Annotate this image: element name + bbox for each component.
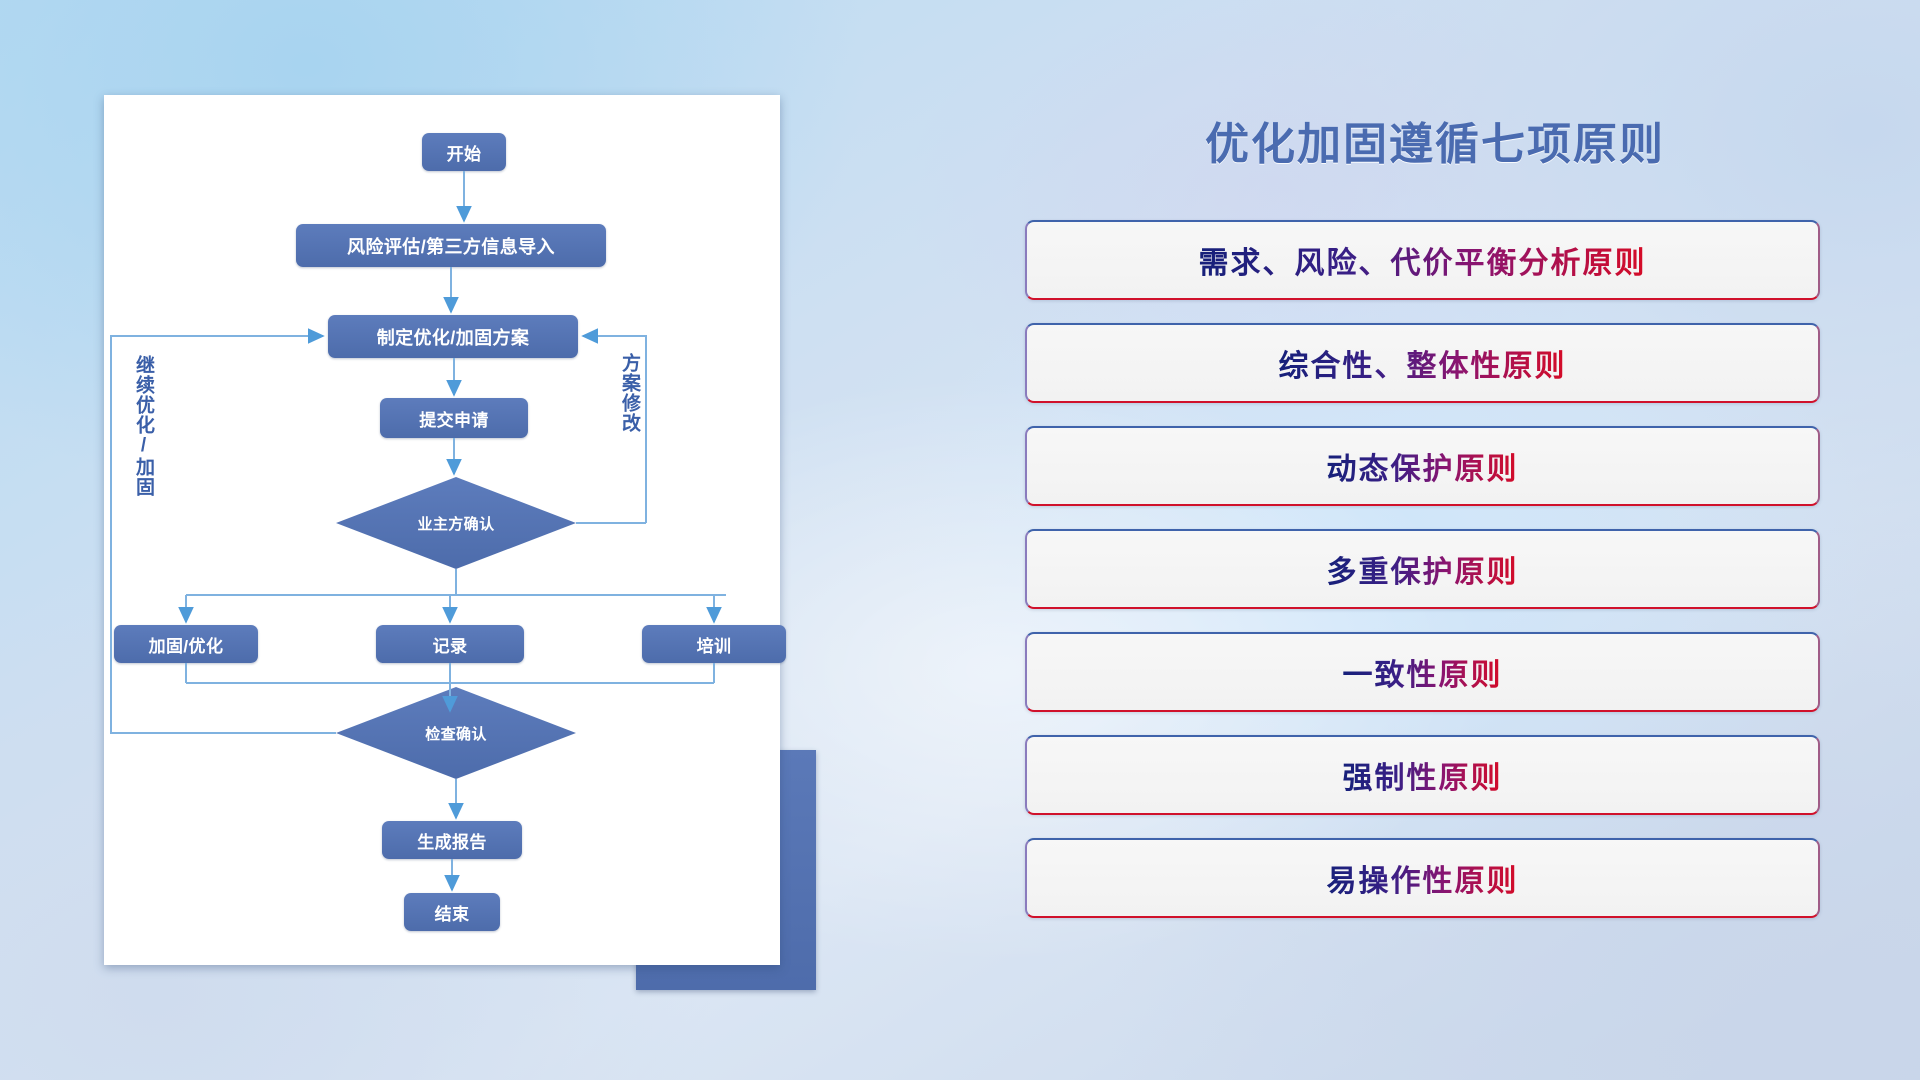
principle-card[interactable]: 多重保护原则 [1025,529,1820,609]
principle-card[interactable]: 强制性原则 [1025,735,1820,815]
page-title: 优化加固遵循七项原则 [1020,108,1850,172]
principle-label: 综合性、整体性原则 [1279,341,1567,385]
principle-label: 强制性原则 [1343,753,1503,797]
principle-card[interactable]: 需求、风险、代价平衡分析原则 [1025,220,1820,300]
principle-card[interactable]: 综合性、整体性原则 [1025,323,1820,403]
principle-card[interactable]: 动态保护原则 [1025,426,1820,506]
principles-panel: 优化加固遵循七项原则 需求、风险、代价平衡分析原则 综合性、整体性原则 动态保护… [1020,80,1850,1040]
principle-label: 易操作性原则 [1327,856,1519,900]
principle-label: 需求、风险、代价平衡分析原则 [1199,238,1647,282]
flowchart-connectors [104,95,780,965]
principle-card[interactable]: 一致性原则 [1025,632,1820,712]
principle-card[interactable]: 易操作性原则 [1025,838,1820,918]
principle-label: 动态保护原则 [1327,444,1519,488]
principle-label: 多重保护原则 [1327,547,1519,591]
flowchart-paper: 开始 风险评估/第三方信息导入 制定优化/加固方案 提交申请 业主方确认 加固/… [104,95,780,965]
principles-card-list: 需求、风险、代价平衡分析原则 综合性、整体性原则 动态保护原则 多重保护原则 一… [1025,220,1820,941]
principle-label: 一致性原则 [1343,650,1503,694]
